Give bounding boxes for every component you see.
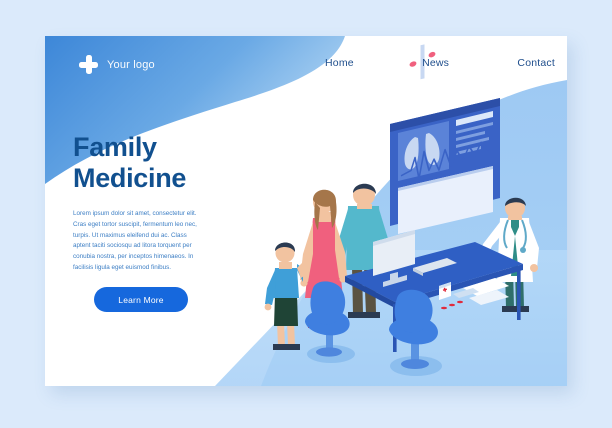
learn-more-button[interactable]: Learn More: [94, 287, 188, 312]
nav-item-news[interactable]: News: [422, 57, 449, 69]
logo-text: Your logo: [107, 59, 155, 71]
nav-item-contact[interactable]: Contact: [517, 57, 555, 69]
desk: [345, 230, 523, 352]
floor: [215, 250, 567, 386]
documents: [453, 278, 509, 305]
pills: [441, 301, 463, 310]
medical-cross-icon: [79, 55, 98, 74]
first-aid-box: [439, 282, 451, 300]
hero-description: Lorem ipsum dolor sit amet, consectetur …: [73, 209, 199, 274]
page-title-line1: Family: [73, 132, 157, 162]
page-title: FamilyMedicine: [73, 132, 233, 193]
hero-section: FamilyMedicine Lorem ipsum dolor sit ame…: [73, 132, 233, 274]
landing-page-card: Your logo Home News Contact FamilyMedici…: [45, 36, 567, 386]
page-root: Your logo Home News Contact FamilyMedici…: [0, 0, 612, 428]
main-navigation: Home News Contact: [325, 57, 555, 69]
keyboard: [413, 258, 457, 276]
desktop-computer-monitor: [373, 230, 415, 287]
stool-left: [305, 281, 355, 363]
page-title-line2: Medicine: [73, 163, 186, 193]
child-figure: [265, 243, 307, 351]
stool-right: [389, 290, 442, 376]
logo[interactable]: Your logo: [79, 55, 155, 74]
nav-item-home[interactable]: Home: [325, 57, 354, 69]
